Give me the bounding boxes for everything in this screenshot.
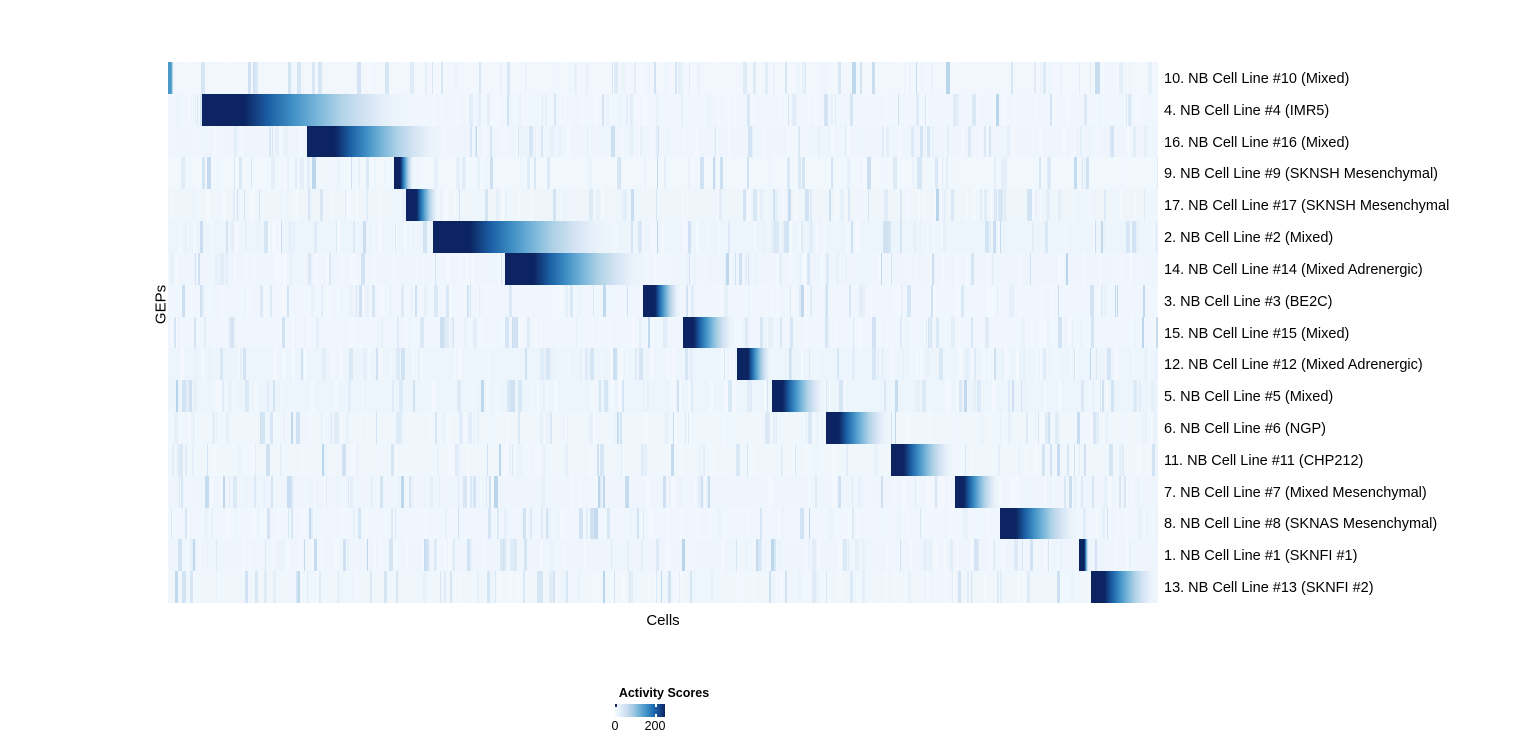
heatmap-cell-streak xyxy=(992,285,994,317)
heatmap-cell-streak xyxy=(997,571,999,603)
heatmap-cell-streak xyxy=(366,412,369,444)
heatmap-cell-streak xyxy=(604,380,608,412)
heatmap-cell-streak xyxy=(1132,221,1136,253)
heatmap-cell-streak xyxy=(631,157,635,189)
heatmap-cell-streak xyxy=(237,189,238,221)
heatmap-cell-streak xyxy=(946,62,950,94)
heatmap-cell-streak xyxy=(377,317,380,349)
heatmap-cell-streak xyxy=(848,221,850,253)
heatmap-cell-streak xyxy=(993,221,996,253)
heatmap-cell-streak xyxy=(307,571,308,603)
heatmap-cell-streak xyxy=(275,126,278,158)
heatmap-cell-streak xyxy=(874,444,877,476)
heatmap-cell-streak xyxy=(882,508,884,540)
heatmap-cell-streak xyxy=(838,476,841,508)
heatmap-cell-streak xyxy=(816,221,818,253)
heatmap-cell-streak xyxy=(1086,476,1088,508)
heatmap-cell-streak xyxy=(455,571,456,603)
heatmap-cell-streak xyxy=(267,317,271,349)
heatmap-cell-streak xyxy=(787,157,789,189)
heatmap-cell-streak xyxy=(752,571,755,603)
heatmap-cell-streak xyxy=(261,412,264,444)
heatmap-cell-streak xyxy=(233,476,234,508)
heatmap-cell-streak xyxy=(1118,157,1119,189)
heatmap-cell-streak xyxy=(1096,348,1097,380)
heatmap-cell-streak xyxy=(673,412,674,444)
heatmap-cell-streak xyxy=(909,62,911,94)
heatmap-cell-streak xyxy=(958,348,962,380)
heatmap-row xyxy=(168,508,1158,540)
heatmap-cell-streak xyxy=(589,412,593,444)
heatmap-cell-streak xyxy=(771,539,774,571)
heatmap-cell-streak xyxy=(787,285,789,317)
heatmap-cell-streak xyxy=(423,221,427,253)
heatmap-cell-streak xyxy=(790,221,792,253)
heatmap-cell-streak xyxy=(445,317,449,349)
heatmap-cell-streak xyxy=(607,94,608,126)
heatmap-cell-streak xyxy=(1121,253,1123,285)
heatmap-cell-streak xyxy=(935,157,938,189)
heatmap-cell-streak xyxy=(795,126,798,158)
heatmap-cell-streak xyxy=(335,380,339,412)
heatmap-cell-streak xyxy=(490,126,492,158)
heatmap-cell-streak xyxy=(945,126,946,158)
heatmap-cell-streak xyxy=(735,253,736,285)
heatmap-cell-streak xyxy=(658,253,659,285)
heatmap-cell-streak xyxy=(674,126,678,158)
heatmap-cell-streak xyxy=(1060,62,1062,94)
heatmap-cell-streak xyxy=(957,508,958,540)
heatmap-cell-streak xyxy=(635,348,637,380)
heatmap-cell-streak xyxy=(213,126,216,158)
heatmap-cell-streak xyxy=(1004,157,1007,189)
heatmap-cell-streak xyxy=(448,539,451,571)
heatmap-cell-streak xyxy=(528,508,530,540)
heatmap-cell-streak xyxy=(775,221,779,253)
heatmap-cell-streak xyxy=(436,94,439,126)
heatmap-cell-streak xyxy=(181,157,185,189)
heatmap-cell-streak xyxy=(634,380,636,412)
heatmap-cell-streak xyxy=(1156,508,1158,540)
heatmap-cell-streak xyxy=(537,444,541,476)
heatmap-row xyxy=(168,348,1158,380)
heatmap-row-label: 8. NB Cell Line #8 (SKNAS Mesenchymal) xyxy=(1164,517,1437,532)
colorbar-tick-mark-max xyxy=(655,702,657,707)
heatmap-cell-streak xyxy=(1146,508,1148,540)
heatmap-row-label: 16. NB Cell Line #16 (Mixed) xyxy=(1164,136,1349,151)
heatmap-cell-streak xyxy=(475,126,476,158)
heatmap-cell-streak xyxy=(1118,285,1122,317)
heatmap-cell-streak xyxy=(817,539,821,571)
heatmap-cell-streak xyxy=(817,62,818,94)
heatmap-cell-streak xyxy=(213,444,217,476)
heatmap-cell-streak xyxy=(665,412,669,444)
heatmap-cell-streak xyxy=(379,539,383,571)
heatmap-cell-streak xyxy=(933,221,935,253)
heatmap-cell-streak xyxy=(1107,348,1110,380)
heatmap-cell-streak xyxy=(314,253,318,285)
heatmap-cell-streak xyxy=(500,539,504,571)
heatmap-cell-streak xyxy=(246,189,247,221)
heatmap-cell-streak xyxy=(1057,571,1060,603)
heatmap-cell-streak xyxy=(639,62,641,94)
heatmap-cell-streak xyxy=(787,62,789,94)
heatmap-cell-streak xyxy=(1136,221,1138,253)
heatmap-cell-streak xyxy=(393,539,394,571)
heatmap-cell-streak xyxy=(880,62,884,94)
heatmap-cell-streak xyxy=(881,476,883,508)
heatmap-cell-streak xyxy=(789,253,791,285)
heatmap-cell-streak xyxy=(473,412,475,444)
heatmap-cell-streak xyxy=(477,157,480,189)
heatmap-cell-streak xyxy=(818,126,820,158)
heatmap-cell-streak xyxy=(685,62,688,94)
heatmap-cell-streak xyxy=(576,444,577,476)
heatmap-cell-streak xyxy=(728,380,732,412)
heatmap-cell-streak xyxy=(601,189,604,221)
heatmap-cell-streak xyxy=(900,317,902,349)
heatmap-cell-streak xyxy=(173,444,174,476)
heatmap-cell-streak xyxy=(737,571,739,603)
heatmap-cell-streak xyxy=(342,444,346,476)
heatmap-cell-streak xyxy=(1138,253,1139,285)
heatmap-cell-streak xyxy=(905,317,908,349)
heatmap-cell-streak xyxy=(1052,476,1053,508)
heatmap-cell-streak xyxy=(1116,348,1119,380)
heatmap-cell-streak xyxy=(379,189,381,221)
heatmap-cell-streak xyxy=(993,539,995,571)
heatmap-cell-streak xyxy=(1133,348,1136,380)
heatmap-cell-streak xyxy=(582,94,585,126)
heatmap-cell-streak xyxy=(961,253,962,285)
heatmap-cell-streak xyxy=(1099,94,1101,126)
heatmap-cell-streak xyxy=(850,94,853,126)
heatmap-cell-streak xyxy=(459,189,460,221)
heatmap-cell-streak xyxy=(1065,221,1067,253)
heatmap-cell-streak xyxy=(1093,412,1096,444)
heatmap-cell-streak xyxy=(1063,126,1066,158)
heatmap-cell-streak xyxy=(831,94,833,126)
heatmap-cell-streak xyxy=(912,157,915,189)
heatmap-cell-streak xyxy=(644,157,646,189)
heatmap-cell-streak xyxy=(1107,508,1109,540)
heatmap-cell-streak xyxy=(247,285,250,317)
heatmap-cell-streak xyxy=(360,412,361,444)
heatmap-cell-streak xyxy=(714,285,717,317)
heatmap-cell-streak xyxy=(755,253,756,285)
heatmap-cell-streak xyxy=(303,285,307,317)
heatmap-cell-streak xyxy=(666,348,668,380)
heatmap-cell-streak xyxy=(761,539,762,571)
heatmap-cell-streak xyxy=(854,221,856,253)
heatmap-cell-streak xyxy=(783,444,785,476)
heatmap-cell-streak xyxy=(973,380,975,412)
heatmap-cell-streak xyxy=(495,380,499,412)
heatmap-cell-streak xyxy=(179,221,181,253)
heatmap-cell-streak xyxy=(805,317,809,349)
heatmap-cell-streak xyxy=(959,380,963,412)
heatmap-cell-streak xyxy=(463,476,467,508)
heatmap-cell-streak xyxy=(641,539,643,571)
heatmap-cell-streak xyxy=(858,221,860,253)
heatmap-cell-streak xyxy=(1037,189,1038,221)
heatmap-cell-streak xyxy=(525,571,527,603)
heatmap-cell-streak xyxy=(361,253,365,285)
heatmap-cell-streak xyxy=(490,94,493,126)
heatmap-cell-streak xyxy=(852,508,854,540)
heatmap-cell-streak xyxy=(659,62,663,94)
heatmap-cell-streak xyxy=(771,285,773,317)
heatmap-cell-streak xyxy=(416,62,417,94)
heatmap-cell-streak xyxy=(688,380,690,412)
heatmap-cell-streak xyxy=(850,62,853,94)
heatmap-cell-streak xyxy=(211,221,214,253)
heatmap-cell-streak xyxy=(620,412,622,444)
heatmap-cell-streak xyxy=(929,317,931,349)
heatmap-cell-streak xyxy=(473,476,477,508)
heatmap-cell-streak xyxy=(572,476,575,508)
heatmap-row-label: 7. NB Cell Line #7 (Mixed Mesenchymal) xyxy=(1164,486,1427,501)
heatmap-cell-streak xyxy=(630,571,633,603)
heatmap-cell-streak xyxy=(1058,285,1059,317)
heatmap-cell-streak xyxy=(936,189,939,221)
heatmap-cell-streak xyxy=(180,476,181,508)
heatmap-cell-streak xyxy=(404,444,405,476)
heatmap-row xyxy=(168,539,1158,571)
heatmap-cell-streak xyxy=(812,189,813,221)
heatmap-cell-streak xyxy=(341,253,344,285)
heatmap-cell-streak xyxy=(235,476,237,508)
heatmap-cell-streak xyxy=(768,476,772,508)
heatmap-cell-streak xyxy=(271,476,273,508)
heatmap-cell-streak xyxy=(231,221,234,253)
heatmap-cell-streak xyxy=(401,285,404,317)
heatmap-cell-streak xyxy=(1070,157,1072,189)
heatmap-cell-streak xyxy=(1051,285,1052,317)
heatmap-cell-streak xyxy=(931,62,932,94)
heatmap-cell-streak xyxy=(643,189,645,221)
heatmap-cell-streak xyxy=(257,221,259,253)
heatmap-cell-streak xyxy=(881,253,882,285)
heatmap-cell-streak xyxy=(347,189,351,221)
heatmap-cell-streak xyxy=(216,539,218,571)
heatmap-cell-streak xyxy=(312,157,316,189)
heatmap-cell-streak xyxy=(196,253,198,285)
heatmap-cell-streak xyxy=(406,62,407,94)
heatmap-cell-streak xyxy=(926,317,927,349)
heatmap-cell-streak xyxy=(1144,348,1147,380)
heatmap-cell-streak xyxy=(332,348,335,380)
heatmap-cell-streak xyxy=(349,157,351,189)
heatmap-cell-streak xyxy=(1031,317,1034,349)
heatmap-cell-streak xyxy=(619,348,623,380)
heatmap-cell-streak xyxy=(401,539,402,571)
heatmap-cell-streak xyxy=(901,571,903,603)
heatmap-cell-streak xyxy=(1115,317,1118,349)
heatmap-cell-streak xyxy=(877,348,879,380)
heatmap-cell-streak xyxy=(703,62,706,94)
heatmap-cell-streak xyxy=(1095,539,1097,571)
heatmap-cell-streak xyxy=(301,348,304,380)
heatmap-cell-streak xyxy=(401,348,405,380)
heatmap-cell-streak xyxy=(847,253,849,285)
heatmap-cell-streak xyxy=(498,571,502,603)
heatmap-cell-streak xyxy=(751,285,753,317)
heatmap-cell-streak xyxy=(937,380,940,412)
heatmap-cell-streak xyxy=(988,348,990,380)
heatmap-cell-streak xyxy=(793,62,794,94)
heatmap-cell-streak xyxy=(174,317,176,349)
heatmap-cell-streak xyxy=(622,444,625,476)
heatmap-cell-streak xyxy=(685,348,687,380)
heatmap-cell-streak xyxy=(801,348,803,380)
heatmap-cell-streak xyxy=(1100,380,1102,412)
heatmap-cell-streak xyxy=(449,508,450,540)
heatmap-cell-streak xyxy=(1113,157,1116,189)
heatmap-cell-streak xyxy=(565,444,568,476)
heatmap-cell-streak xyxy=(1030,285,1031,317)
heatmap-cell-streak xyxy=(296,380,298,412)
heatmap-cell-streak xyxy=(885,94,889,126)
heatmap-cell-streak xyxy=(1135,157,1137,189)
heatmap-cell-streak xyxy=(793,348,796,380)
heatmap-cell-streak xyxy=(291,412,293,444)
heatmap-cell-streak xyxy=(622,539,623,571)
heatmap-cell-streak xyxy=(729,62,730,94)
heatmap-cell-streak xyxy=(796,62,799,94)
heatmap-cell-streak xyxy=(193,380,197,412)
heatmap-cell-streak xyxy=(540,539,544,571)
heatmap-cell-streak xyxy=(191,412,195,444)
heatmap-cell-streak xyxy=(886,317,888,349)
heatmap-cell-streak xyxy=(195,126,198,158)
heatmap-cell-streak xyxy=(373,221,375,253)
heatmap-cell-streak xyxy=(426,539,429,571)
heatmap-cell-streak xyxy=(475,62,479,94)
heatmap-cell-streak xyxy=(1025,444,1026,476)
heatmap-cell-streak xyxy=(773,189,775,221)
heatmap-cell-streak xyxy=(992,348,994,380)
heatmap-cell-streak xyxy=(671,444,674,476)
heatmap-cell-streak xyxy=(693,253,697,285)
heatmap-cell-streak xyxy=(493,253,495,285)
heatmap-cell-streak xyxy=(619,539,622,571)
heatmap-cell-streak xyxy=(680,317,681,349)
heatmap-cell-streak xyxy=(632,317,634,349)
heatmap-cell-streak xyxy=(826,571,827,603)
heatmap-cell-streak xyxy=(255,380,257,412)
heatmap-cell-streak xyxy=(1075,571,1077,603)
heatmap-cell-streak xyxy=(859,348,860,380)
heatmap-cell-streak xyxy=(1089,126,1092,158)
heatmap-cell-streak xyxy=(259,539,260,571)
heatmap-cell-streak xyxy=(381,317,383,349)
heatmap-cell-streak xyxy=(912,571,913,603)
heatmap-cell-streak xyxy=(598,317,599,349)
heatmap-cell-streak xyxy=(829,189,831,221)
heatmap-cell-streak xyxy=(267,380,270,412)
heatmap-cell-streak xyxy=(534,157,536,189)
heatmap-cell-streak xyxy=(708,253,712,285)
heatmap-cell-streak xyxy=(848,189,849,221)
heatmap-cell-streak xyxy=(185,221,186,253)
heatmap-cell-streak xyxy=(637,508,640,540)
heatmap-cell-streak xyxy=(270,412,273,444)
heatmap-cell-streak xyxy=(869,476,870,508)
heatmap-cell-streak xyxy=(520,157,522,189)
heatmap-cell-streak xyxy=(1045,221,1048,253)
heatmap-cell-streak xyxy=(432,380,436,412)
heatmap-cell-streak xyxy=(251,444,254,476)
heatmap-cell-streak xyxy=(553,189,556,221)
heatmap-cell-streak xyxy=(970,539,974,571)
heatmap-cell-streak xyxy=(342,571,343,603)
heatmap-cell-streak xyxy=(849,285,851,317)
heatmap-cell-streak xyxy=(998,221,1000,253)
heatmap-cell-streak xyxy=(1019,444,1020,476)
heatmap-cell-streak xyxy=(426,508,427,540)
heatmap-cell-streak xyxy=(587,189,589,221)
heatmap-cell-streak xyxy=(1104,476,1107,508)
heatmap-cell-streak xyxy=(321,285,323,317)
heatmap-cell-streak xyxy=(434,285,437,317)
heatmap-cell-streak xyxy=(444,571,446,603)
heatmap-cell-streak xyxy=(801,285,804,317)
heatmap-cell-streak xyxy=(456,94,459,126)
heatmap-cell-streak xyxy=(326,539,329,571)
heatmap-cell-streak xyxy=(939,348,943,380)
heatmap-cell-streak xyxy=(780,317,782,349)
heatmap-cell-streak xyxy=(245,253,247,285)
heatmap-cell-streak xyxy=(173,380,176,412)
heatmap-cell-streak xyxy=(346,412,349,444)
heatmap-row xyxy=(168,221,1158,253)
heatmap-cell-streak xyxy=(314,476,316,508)
heatmap-cell-streak xyxy=(911,126,914,158)
heatmap-cell-streak xyxy=(892,476,895,508)
heatmap-cell-streak xyxy=(900,189,902,221)
heatmap-cell-streak xyxy=(919,221,923,253)
heatmap-activity-block xyxy=(826,412,890,444)
heatmap-cell-streak xyxy=(535,126,536,158)
heatmap-cell-streak xyxy=(638,221,642,253)
heatmap-cell-streak xyxy=(393,253,395,285)
heatmap-cell-streak xyxy=(747,189,751,221)
heatmap-cell-streak xyxy=(680,571,683,603)
heatmap-cell-streak xyxy=(753,539,756,571)
heatmap-activity-block xyxy=(406,189,440,221)
heatmap-cell-streak xyxy=(367,539,368,571)
heatmap-row-label: 1. NB Cell Line #1 (SKNFI #1) xyxy=(1164,549,1357,564)
heatmap-cell-streak xyxy=(799,221,800,253)
heatmap-cell-streak xyxy=(348,380,351,412)
heatmap-cell-streak xyxy=(691,285,694,317)
heatmap-cell-streak xyxy=(449,285,452,317)
heatmap-cell-streak xyxy=(672,348,676,380)
heatmap-cell-streak xyxy=(937,94,941,126)
heatmap-cell-streak xyxy=(420,317,424,349)
heatmap-cell-streak xyxy=(311,380,314,412)
heatmap-cell-streak xyxy=(728,221,731,253)
heatmap-cell-streak xyxy=(947,126,948,158)
heatmap-cell-streak xyxy=(1097,285,1101,317)
heatmap-cell-streak xyxy=(1040,189,1041,221)
heatmap-cell-streak xyxy=(245,221,247,253)
heatmap-cell-streak xyxy=(728,126,731,158)
heatmap-cell-streak xyxy=(594,94,598,126)
heatmap-cell-streak xyxy=(947,539,949,571)
heatmap-cell-streak xyxy=(905,94,906,126)
